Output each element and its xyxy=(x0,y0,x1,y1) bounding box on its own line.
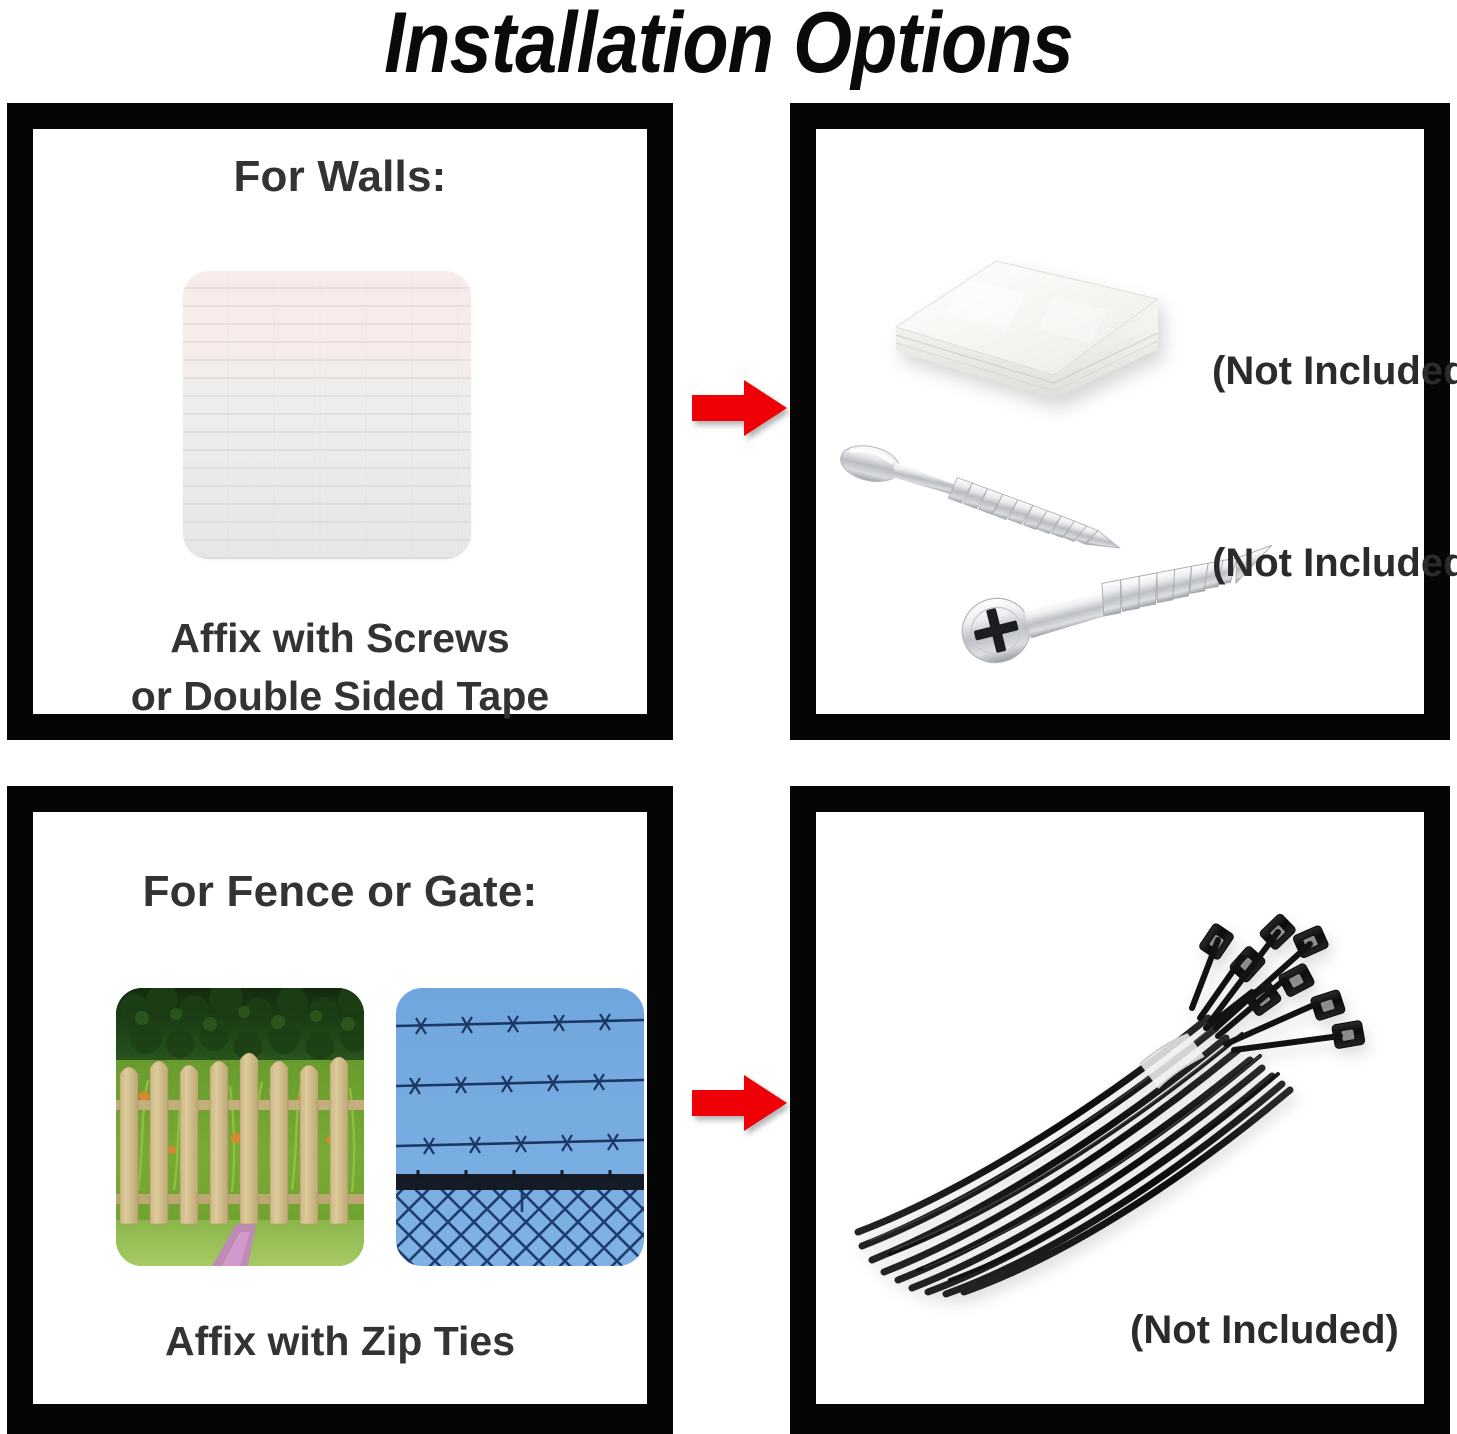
zip-ties-not-included-label: (Not Included) xyxy=(1130,1308,1399,1353)
panel-for-walls: For Walls: Affix with Screws or Double S… xyxy=(7,103,673,740)
red-right-arrow-icon xyxy=(692,1073,788,1133)
panel-for-fence-or-gate: For Fence or Gate: xyxy=(7,786,673,1434)
wooden-picket-fence-photo xyxy=(116,988,364,1266)
tape-not-included-label: (Not Included) xyxy=(1212,349,1457,394)
page-title: Installation Options xyxy=(87,0,1369,93)
fence-caption-line1: Affix with Zip Ties xyxy=(33,1312,647,1370)
walls-caption-line1: Affix with Screws xyxy=(33,609,647,667)
chain-link-barbed-wire-fence-photo xyxy=(396,988,644,1266)
fence-caption: Affix with Zip Ties xyxy=(33,1312,647,1370)
white-brick-wall-photo xyxy=(183,271,471,559)
fence-heading: For Fence or Gate: xyxy=(33,867,647,917)
walls-heading: For Walls: xyxy=(33,152,647,202)
double-sided-tape-stack-icon xyxy=(876,239,1176,419)
red-right-arrow-icon xyxy=(692,378,788,438)
walls-caption: Affix with Screws or Double Sided Tape xyxy=(33,609,647,725)
black-zip-tie-bundle-icon xyxy=(854,888,1384,1308)
panel-fence-hardware: (Not Included) xyxy=(790,786,1450,1434)
walls-caption-line2: or Double Sided Tape xyxy=(33,667,647,725)
screws-not-included-label: (Not Included) xyxy=(1212,541,1457,586)
panel-wall-hardware: (Not Included) xyxy=(790,103,1450,740)
